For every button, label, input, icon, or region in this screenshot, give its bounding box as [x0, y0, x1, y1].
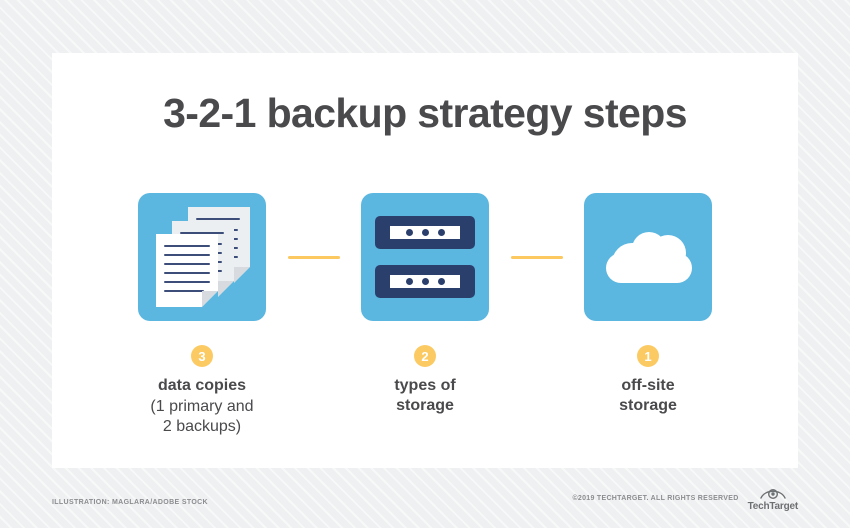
step-badge: 3 — [191, 345, 213, 367]
eye-target-icon — [760, 487, 786, 500]
server-bar-top — [375, 216, 475, 249]
cloud-icon — [584, 193, 712, 321]
connector-line-1 — [286, 193, 342, 321]
step-off-site-storage: 1 off-site storage — [565, 193, 732, 417]
step-data-copies: 3 data copies (1 primary and 2 backups) — [119, 193, 286, 437]
step-badge: 1 — [637, 345, 659, 367]
documents-stack — [156, 207, 250, 307]
server-slot — [389, 225, 461, 240]
connector-line-2 — [509, 193, 565, 321]
step-types-of-storage: 2 types of storage — [342, 193, 509, 417]
server-slot — [389, 274, 461, 289]
server-bar-bottom — [375, 265, 475, 298]
step-caption-sub: (1 primary and 2 backups) — [150, 397, 253, 437]
server-dot — [406, 229, 413, 236]
page-title: 3-2-1 backup strategy steps — [52, 90, 798, 137]
logo-wordmark: TechTarget — [748, 501, 798, 512]
step-caption-main: off-site storage — [619, 376, 677, 416]
documents-icon — [138, 193, 266, 321]
step-caption-main: data copies — [158, 376, 246, 396]
server-stack — [375, 216, 475, 298]
server-dot — [422, 278, 429, 285]
steps-row: 3 data copies (1 primary and 2 backups) — [52, 193, 798, 437]
server-dot — [438, 229, 445, 236]
step-badge: 2 — [414, 345, 436, 367]
cloud-shape — [606, 233, 692, 283]
illustration-credit: ILLUSTRATION: MAGLARA/ADOBE STOCK — [52, 499, 208, 506]
infographic-card: 3-2-1 backup strategy steps — [52, 53, 798, 468]
server-dot — [422, 229, 429, 236]
copyright-text: ©2019 TECHTARGET. ALL RIGHTS RESERVED — [572, 495, 738, 504]
techtarget-logo: TechTarget — [748, 487, 798, 512]
footer-right: ©2019 TECHTARGET. ALL RIGHTS RESERVED Te… — [572, 487, 798, 512]
server-dot — [438, 278, 445, 285]
servers-icon — [361, 193, 489, 321]
step-caption-main: types of storage — [394, 376, 455, 416]
document-sheet-front — [156, 234, 218, 307]
server-dot — [406, 278, 413, 285]
